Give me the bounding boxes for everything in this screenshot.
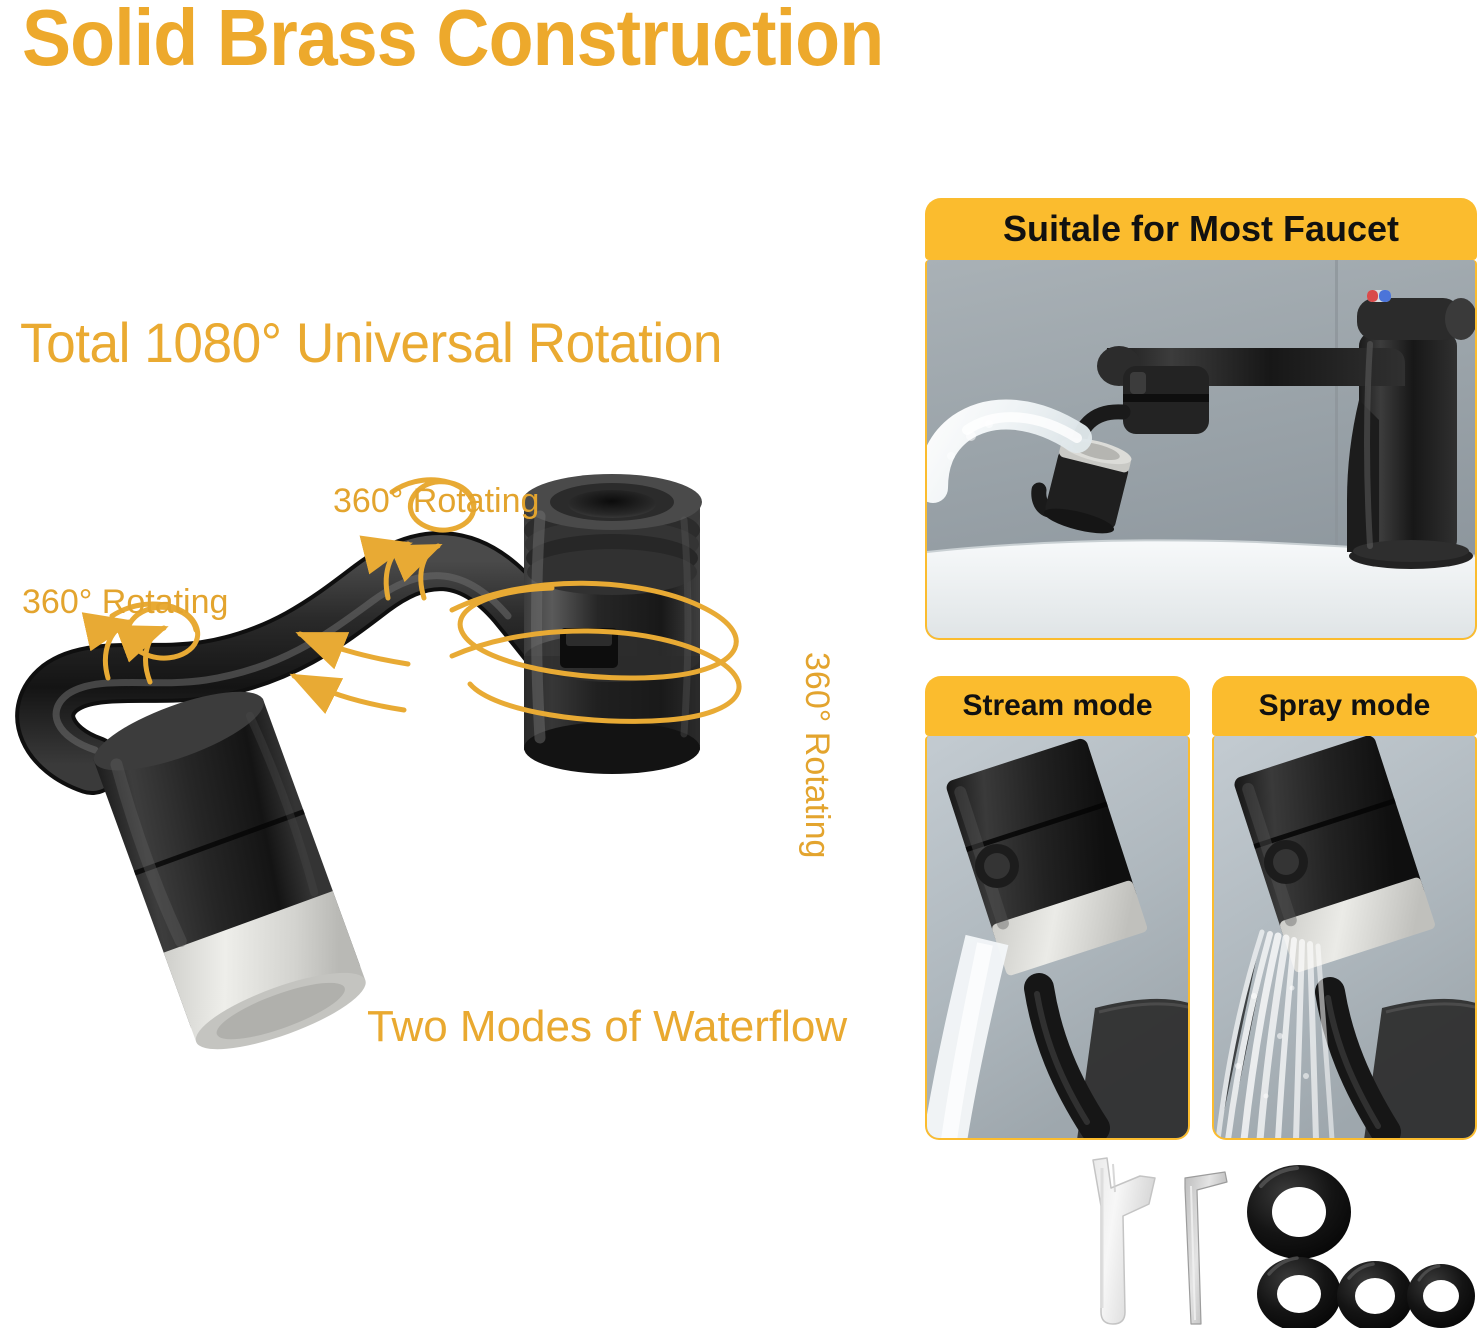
product-diagram: 360° Rotating 360° Rotating 360° Rotatin… <box>0 420 900 1210</box>
rubber-washer-large-icon <box>1247 1165 1351 1259</box>
faucet-scene-svg <box>927 260 1477 640</box>
accessories-svg <box>1085 1148 1475 1328</box>
photo-faucet-installed <box>925 260 1477 640</box>
panel-title-stream: Stream mode <box>925 676 1190 736</box>
spray-mode-svg <box>1214 736 1477 1140</box>
waterflow-label: Two Modes of Waterflow <box>367 1002 847 1052</box>
faucet-extender-illustration <box>0 420 900 1210</box>
rubber-washer-small-1-icon <box>1257 1257 1341 1328</box>
panel-title-faucet: Suitale for Most Faucet <box>925 198 1477 260</box>
rotation-label-left: 360° Rotating <box>22 583 228 622</box>
panel-spray-mode: Spray mode <box>1212 676 1477 1140</box>
photo-stream-mode <box>925 736 1190 1140</box>
panel-title-spray: Spray mode <box>1212 676 1477 736</box>
stream-mode-svg <box>927 736 1190 1140</box>
rotation-label-top: 360° Rotating <box>333 482 539 521</box>
photo-spray-mode <box>1212 736 1477 1140</box>
spray-head <box>85 676 373 1065</box>
panel-stream-mode: Stream mode <box>925 676 1190 1140</box>
subtitle: Total 1080° Universal Rotation <box>20 310 722 375</box>
rubber-washer-small-2-icon <box>1337 1261 1413 1328</box>
fork-spanner-wrench-icon <box>1093 1158 1155 1324</box>
rotation-label-right: 360° Rotating <box>797 652 836 858</box>
hex-key-icon <box>1185 1172 1227 1324</box>
threaded-connector <box>522 474 702 774</box>
accessories-group <box>1085 1148 1475 1328</box>
panel-suitable-faucet: Suitale for Most Faucet <box>925 198 1477 640</box>
page-title: Solid Brass Construction <box>22 0 883 84</box>
rubber-washer-small-3-icon <box>1407 1264 1475 1328</box>
